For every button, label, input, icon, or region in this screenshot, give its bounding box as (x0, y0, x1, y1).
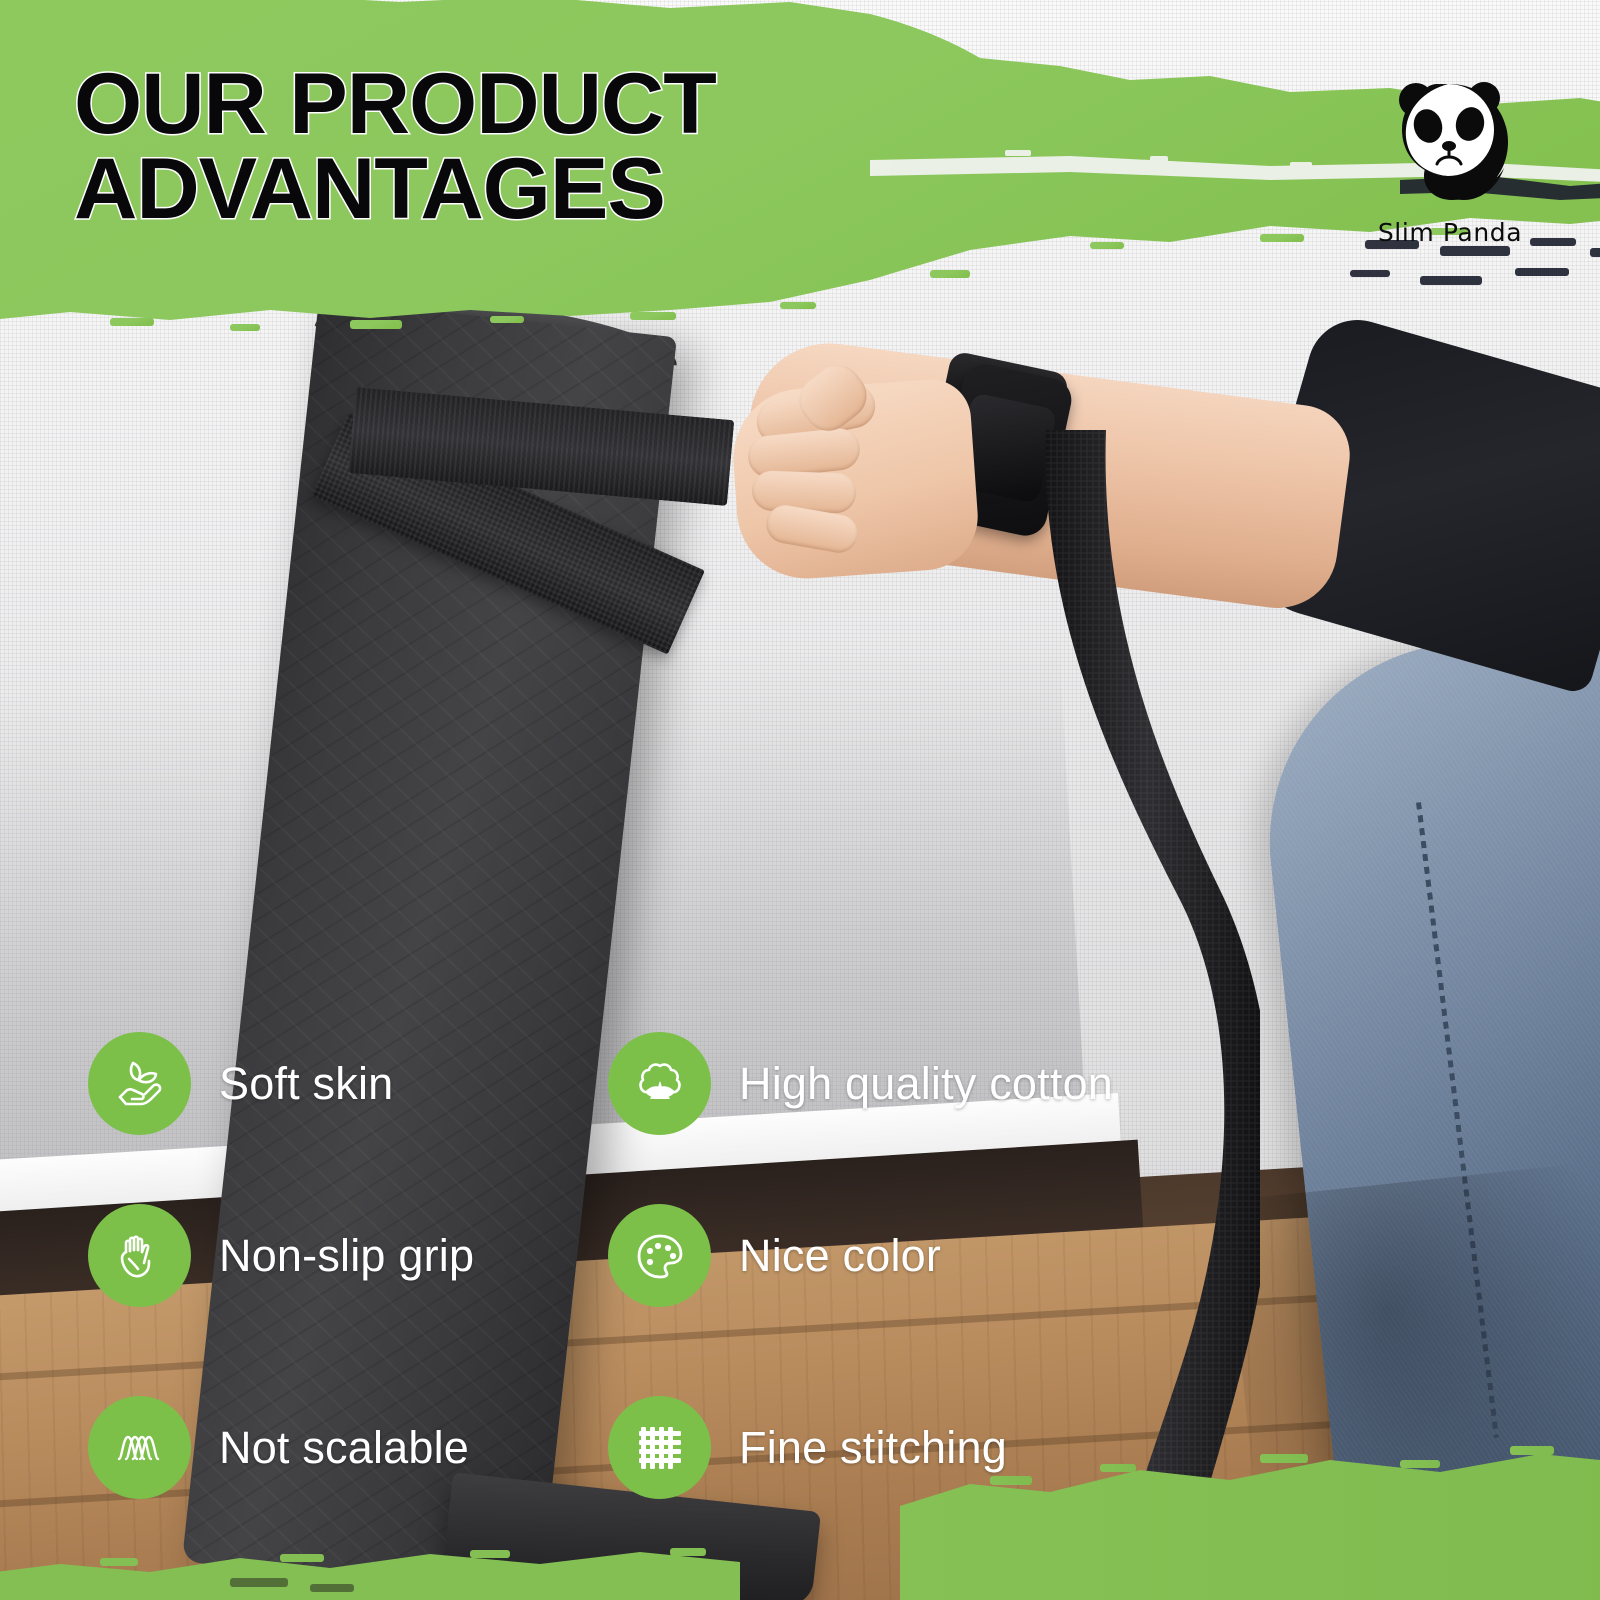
paint-palette-icon (629, 1225, 691, 1287)
feature-badge (88, 1396, 191, 1499)
feature-badge (608, 1396, 711, 1499)
feature-badge (88, 1032, 191, 1135)
overlapping-waves-icon (109, 1417, 171, 1479)
feature-item-not-scalable[interactable]: Not scalable (88, 1396, 469, 1499)
feature-item-high-quality-cotton[interactable]: High quality cotton (608, 1032, 1113, 1135)
feature-list: Soft skin Non-slip grip (0, 0, 1600, 1600)
feature-label: Non-slip grip (219, 1230, 474, 1282)
feature-label: High quality cotton (739, 1058, 1113, 1110)
feature-item-nice-color[interactable]: Nice color (608, 1204, 941, 1307)
feature-item-non-slip-grip[interactable]: Non-slip grip (88, 1204, 474, 1307)
hand-holding-leaves-icon (109, 1053, 171, 1115)
product-advantages-poster: OUR PRODUCT ADVANTAGES (0, 0, 1600, 1600)
feature-label: Soft skin (219, 1058, 393, 1110)
feature-item-soft-skin[interactable]: Soft skin (88, 1032, 393, 1135)
feature-item-fine-stitching[interactable]: Fine stitching (608, 1396, 1007, 1499)
open-palm-hand-icon (109, 1225, 171, 1287)
woven-mesh-grid-icon (631, 1419, 689, 1477)
feature-label: Fine stitching (739, 1422, 1007, 1474)
feature-badge (608, 1032, 711, 1135)
feature-label: Not scalable (219, 1422, 469, 1474)
feature-label: Nice color (739, 1230, 941, 1282)
feature-badge (88, 1204, 191, 1307)
feature-badge (608, 1204, 711, 1307)
cotton-boll-icon (629, 1053, 691, 1115)
